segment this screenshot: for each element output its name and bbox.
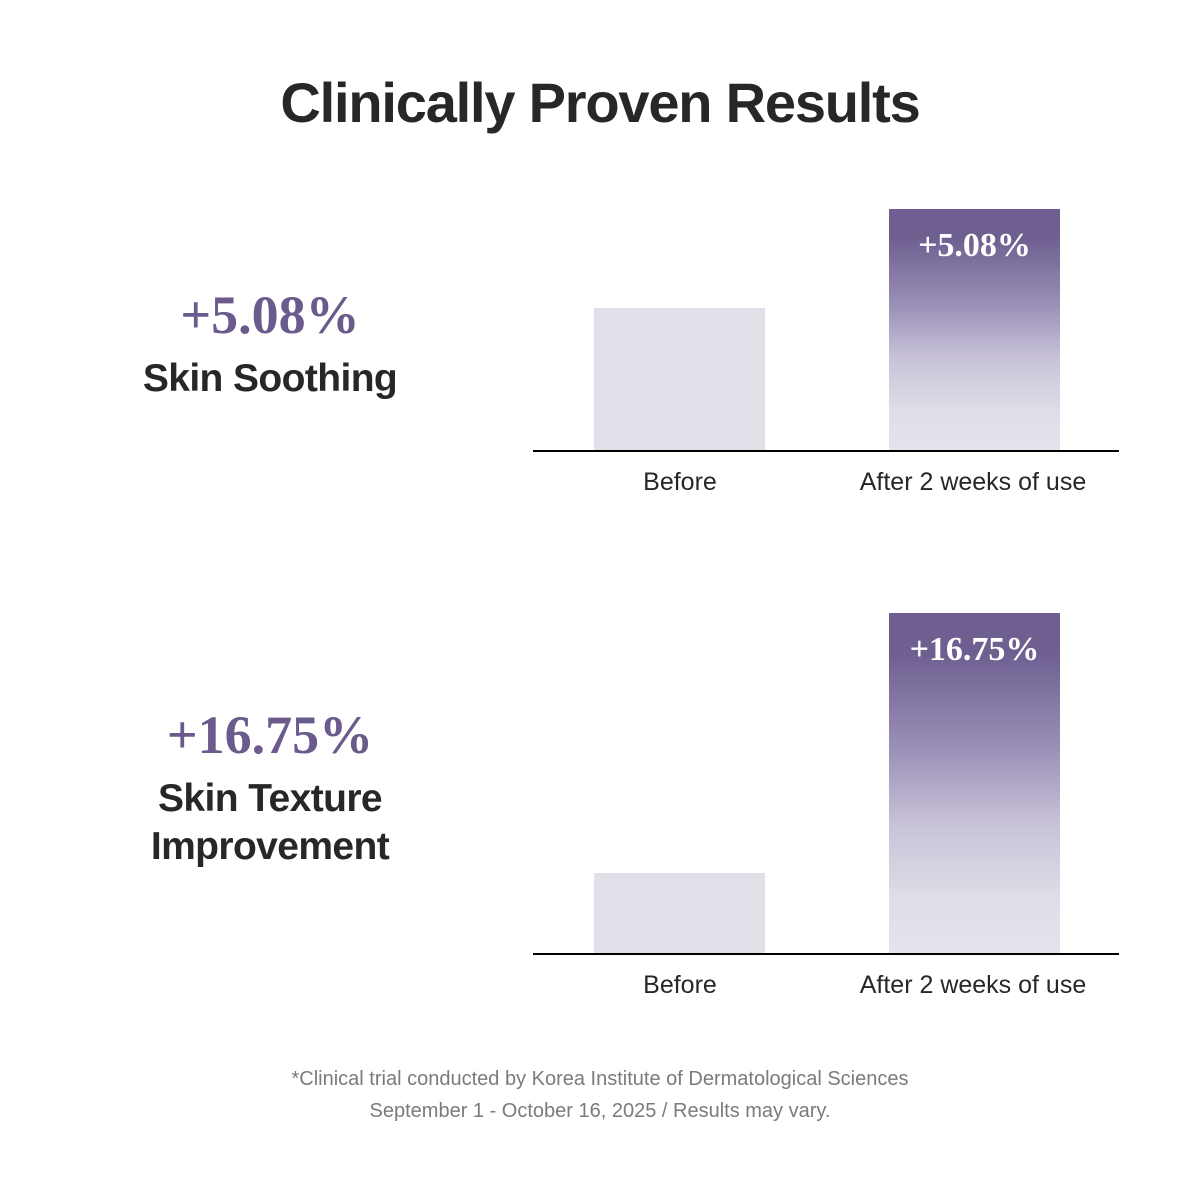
stat-percent-value: +16.75% [60,705,480,765]
stat-metric-name-line2: Improvement [60,823,480,871]
infographic-page: Clinically Proven Results +5.08% Skin So… [0,0,1200,1200]
bar-value-label: +5.08% [889,227,1060,265]
chart-tick-row: Before After 2 weeks of use [533,955,1119,995]
stat-metric-name: Skin Soothing [60,355,480,403]
tick-label-before: Before [533,468,827,497]
bar-before [594,873,765,953]
bar-chart-skin-texture: +16.75% Before After 2 weeks of use [533,595,1119,995]
bar-before [594,308,765,450]
stat-metric-name-line1: Skin Texture [60,775,480,823]
bar-value-label: +16.75% [889,631,1060,669]
stat-metric-name: Skin Texture Improvement [60,775,480,870]
chart-plot-area: +5.08% [533,190,1119,452]
footnote: *Clinical trial conducted by Korea Insti… [0,1063,1200,1128]
bar-after: +16.75% [889,613,1060,953]
tick-label-before: Before [533,971,827,1000]
stat-caption-skin-soothing: +5.08% Skin Soothing [60,285,480,403]
tick-label-after: After 2 weeks of use [827,468,1119,497]
stat-caption-skin-texture: +16.75% Skin Texture Improvement [60,705,480,871]
chart-tick-row: Before After 2 weeks of use [533,452,1119,492]
stat-percent-value: +5.08% [60,285,480,345]
footnote-line-1: *Clinical trial conducted by Korea Insti… [0,1063,1200,1095]
bar-after: +5.08% [889,209,1060,450]
bar-chart-skin-soothing: +5.08% Before After 2 weeks of use [533,190,1119,492]
chart-plot-area: +16.75% [533,595,1119,955]
tick-label-after: After 2 weeks of use [827,971,1119,1000]
page-title: Clinically Proven Results [0,72,1200,134]
footnote-line-2: September 1 - October 16, 2025 / Results… [0,1095,1200,1127]
